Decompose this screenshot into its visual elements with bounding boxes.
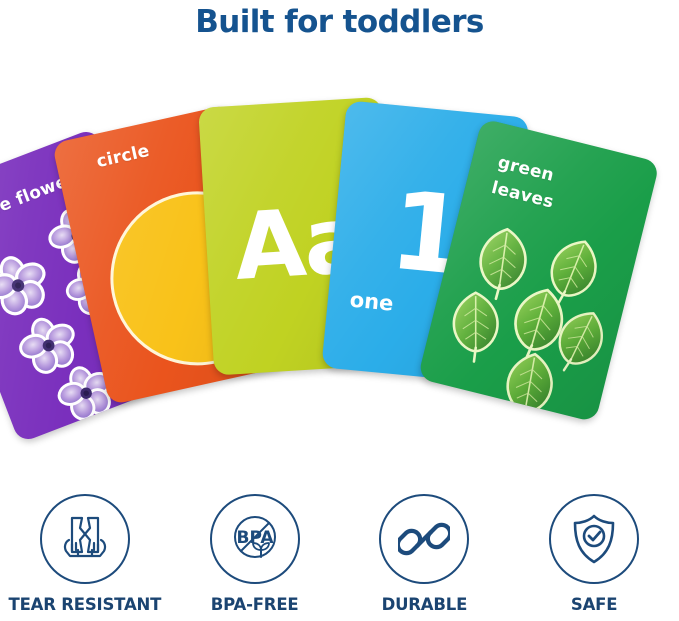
shield-check-icon-circle xyxy=(549,494,639,584)
chain-link-icon-circle xyxy=(379,494,469,584)
flashcard-number-word: one xyxy=(349,288,395,316)
feature-label-durable: DURABLE xyxy=(382,595,468,614)
tear-resistant-icon-circle xyxy=(40,494,130,584)
bpa-free-icon-circle: BPA xyxy=(210,494,300,584)
feature-badges: TEAR RESISTANT BPA BPA-FREE DURABLE xyxy=(0,494,679,621)
feature-label-bpa-free: BPA-FREE xyxy=(211,595,299,614)
feature-durable[interactable]: DURABLE xyxy=(340,494,510,621)
flashcard-label-circle: circle xyxy=(95,141,152,172)
feature-bpa-free[interactable]: BPA BPA-FREE xyxy=(170,494,340,621)
flashcard-fan: purple flowers circle Aa 1 one xyxy=(0,88,679,488)
shield-check-icon xyxy=(567,512,621,566)
bpa-free-icon: BPA xyxy=(226,510,284,568)
feature-label-tear-resistant: TEAR RESISTANT xyxy=(9,595,162,614)
chain-link-icon xyxy=(398,513,450,565)
feature-tear-resistant[interactable]: TEAR RESISTANT xyxy=(0,494,170,621)
page-title: Built for toddlers xyxy=(0,4,679,40)
feature-label-safe: SAFE xyxy=(571,595,617,614)
feature-safe[interactable]: SAFE xyxy=(509,494,679,621)
tear-resistant-icon xyxy=(56,510,114,568)
